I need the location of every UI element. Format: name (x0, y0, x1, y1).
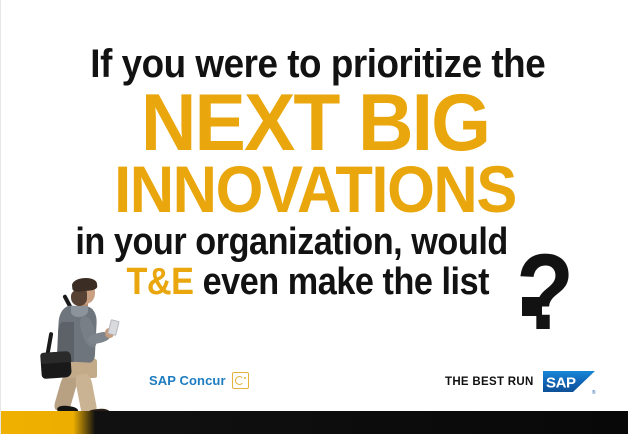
advertisement-canvas: If you were to prioritize the NEXT BIG I… (0, 0, 628, 434)
headline-line-3-innovations: INNOVATIONS (23, 158, 607, 220)
walking-man-illustration (25, 278, 137, 422)
sap-the-best-run-logo: THE BEST RUN SAP ® (445, 371, 595, 392)
headline-line-4: in your organization, would (32, 222, 597, 262)
headline-line-5-rest: even make the list (194, 261, 490, 303)
question-mark-glyph: ? (516, 238, 574, 346)
beard (71, 290, 87, 306)
concur-c-icon (232, 372, 249, 389)
question-mark-dot-square (522, 297, 542, 316)
messenger-bag-flap (41, 351, 72, 364)
svg-text:SAP: SAP (546, 375, 576, 392)
sap-logo-icon: SAP ® (543, 371, 595, 392)
headline-line-2-next-big: NEXT BIG (17, 88, 614, 158)
smartphone-icon (107, 319, 119, 336)
sap-concur-logo: SAP Concur (149, 372, 249, 389)
bottom-accent-bar (1, 411, 628, 434)
sap-concur-wordmark: SAP Concur (149, 373, 226, 388)
registered-trademark-symbol: ® (592, 390, 596, 396)
best-run-tagline: THE BEST RUN (445, 376, 534, 388)
